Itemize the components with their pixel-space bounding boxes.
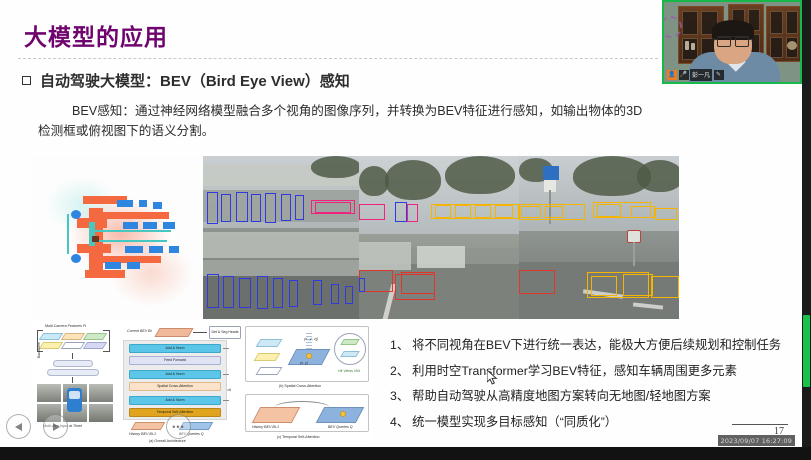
arch-label-backbone: Backbone	[37, 342, 41, 358]
video-camera-icon[interactable]: ✎	[714, 70, 724, 80]
section-heading: 自动驾驶大模型：BEV（Bird Eye View）感知	[22, 70, 350, 91]
arch-caption-b: (b) Spatial Cross-Attention	[279, 384, 321, 388]
play-button[interactable]	[43, 414, 68, 439]
arch-label-hit-views: Hit Views Vhit	[338, 369, 360, 373]
point-text: 将不同视角在BEV下进行统一表达，能极大方便后续规划和控制任务	[412, 337, 781, 353]
list-item: 2、 利用时空Transformer学习BEV特征，感知车辆周围更多元素	[390, 363, 790, 379]
bev-results-image-strip	[31, 156, 679, 319]
user-avatar-icon: 👤	[667, 70, 677, 80]
timestamp-watermark: 2023/09/07 16:27:09	[718, 435, 795, 446]
page-number-rule	[732, 424, 788, 426]
camera-view-front-left	[203, 156, 359, 319]
point-text: 利用时空Transformer学习BEV特征，感知车辆周围更多元素	[412, 363, 737, 379]
speaking-indicator	[803, 315, 810, 387]
title-divider	[18, 58, 658, 59]
arch-caption-a: (a) Overall Architecture	[149, 439, 186, 443]
arch-label-xy: (x, y)	[300, 361, 308, 365]
camera-view-front-right	[519, 156, 679, 319]
point-number: 1、	[390, 337, 409, 353]
arch-box-add-norm-3: Add & Norm	[129, 396, 221, 405]
point-text: 统一模型实现多目标感知（“同质化”）	[412, 414, 617, 430]
previous-slide-button[interactable]	[6, 414, 31, 439]
right-chrome-bar	[802, 0, 811, 460]
section-heading-label: 自动驾驶大模型：BEV（Bird Eye View）感知	[40, 70, 350, 91]
screen-share-window: 大模型的应用 自动驾驶大模型：BEV（Bird Eye View）感知 BEV感…	[0, 0, 811, 460]
bev-haze	[31, 156, 203, 319]
participant-name: 彭一凡	[690, 69, 712, 81]
arch-label-repeat: ×6	[227, 388, 231, 392]
arch-label-coord: (x', y', zj)	[304, 337, 318, 341]
arch-caption-c: (c) Temporal Self-Attention	[277, 435, 319, 439]
arch-box-add-norm-1: Add & Norm	[129, 344, 221, 353]
camera-view-front	[359, 156, 519, 319]
arch-box-det-seg-heads: Det & Seg Heads	[209, 326, 241, 339]
arch-box-add-norm-2: Add & Norm	[129, 370, 221, 379]
arch-label-multi-camera-features: Multi-Camera Features Ft	[45, 324, 86, 328]
bev-semantic-map-panel	[31, 156, 203, 319]
arch-label-bev-queries-c: BEV Queries Q	[328, 425, 353, 429]
playback-controls[interactable]: •••	[6, 414, 191, 439]
point-number: 3、	[390, 388, 409, 404]
arch-label-current-bev: Current BEV Bt	[127, 329, 152, 333]
more-options-button[interactable]: •••	[166, 414, 191, 439]
point-text: 帮助自动驾驶从高精度地图方案转向无地图/轻地图方案	[412, 388, 711, 404]
page-title: 大模型的应用	[24, 18, 168, 52]
body-paragraph: BEV感知：通过神经网络模型融合多个视角的图像序列，并转换为BEV特征进行感知，…	[38, 101, 650, 141]
arch-box-feed-forward: Feed Forward	[129, 356, 221, 365]
arch-box-spatial-cross-attention: Spatial Cross-Attention	[129, 382, 221, 391]
webcam-badge-bar: 👤 🎤 彭一凡 ✎	[666, 69, 725, 80]
glasses-icon	[717, 36, 749, 44]
key-points-list: 1、 将不同视角在BEV下进行统一表达，能极大方便后续规划和控制任务 2、 利用…	[390, 337, 790, 439]
triangle-left-icon	[15, 423, 22, 431]
list-item: 1、 将不同视角在BEV下进行统一表达，能极大方便后续规划和控制任务	[390, 337, 790, 353]
square-bullet-icon	[22, 76, 31, 85]
webcam-video-tile[interactable]: 👤 🎤 彭一凡 ✎	[662, 0, 802, 84]
point-number: 2、	[390, 363, 409, 379]
microphone-icon[interactable]: 🎤	[679, 70, 689, 80]
arch-label-history-bev-c: History BEV Bt-1	[252, 425, 279, 429]
bottom-chrome-bar	[0, 447, 811, 460]
arch-subpanel-spatial-cross-attention: (x', y', zj) (x, y) Hit Views Vhit	[245, 326, 369, 382]
list-item: 3、 帮助自动驾驶从高精度地图方案转向无地图/轻地图方案	[390, 388, 790, 404]
point-number: 4、	[390, 414, 409, 430]
cabinet-right	[766, 6, 802, 62]
arch-subpanel-temporal-self-attention: History BEV Bt-1 BEV Queries Q	[245, 394, 369, 432]
triangle-right-icon	[53, 423, 60, 431]
list-item: 4、 统一模型实现多目标感知（“同质化”）	[390, 414, 790, 430]
ellipsis-icon: •••	[172, 422, 184, 432]
